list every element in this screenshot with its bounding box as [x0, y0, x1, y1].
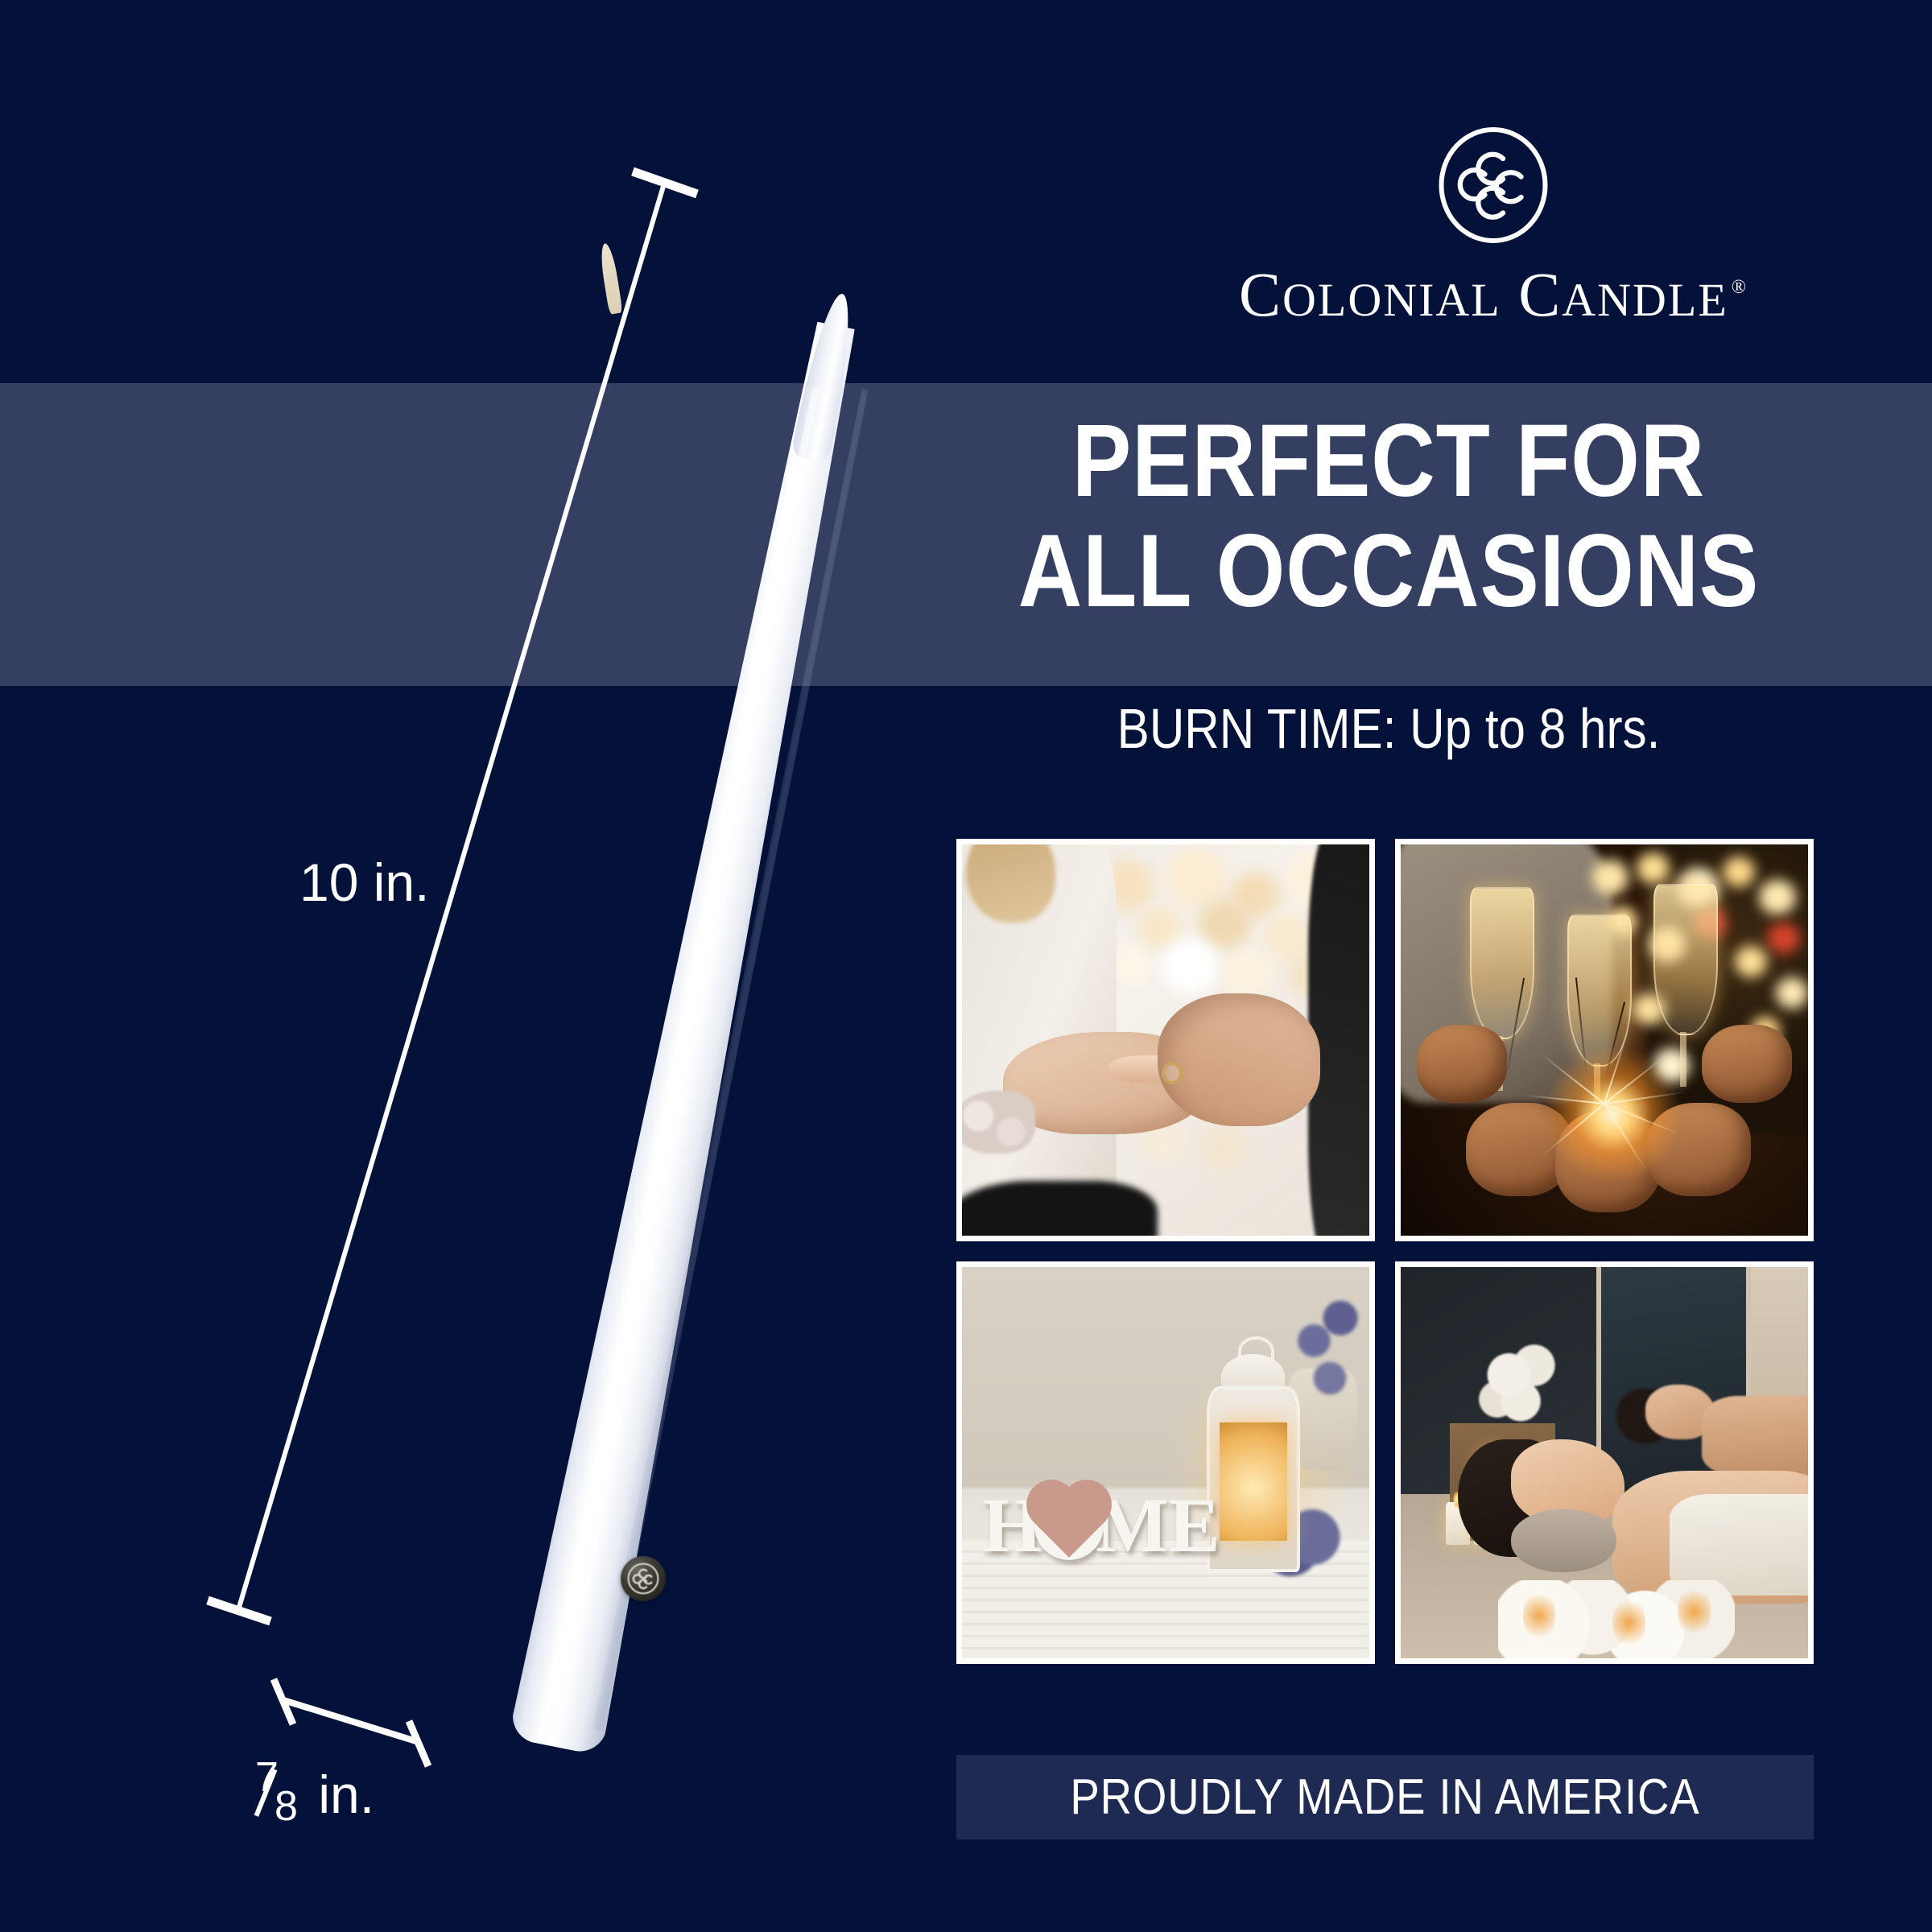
- brand-name: COLONIAL CANDLE®: [1159, 263, 1827, 326]
- burn-time-text: BURN TIME: Up to 8 hrs.: [963, 700, 1814, 757]
- registered-trademark-icon: ®: [1732, 277, 1748, 298]
- taper-candle-illustration: [201, 121, 926, 1795]
- height-dimension-label: 10 in.: [299, 852, 429, 913]
- width-dimension-label: 78 in.: [254, 1763, 374, 1825]
- colonial-candle-clover-cc-monogram-icon: [1433, 125, 1554, 246]
- home-sign: H M E: [982, 1482, 1220, 1568]
- photo-wedding-rings: [956, 839, 1375, 1241]
- home-sign-letter-e: E: [1169, 1491, 1220, 1560]
- brand-name-andle: ANDLE: [1562, 274, 1728, 326]
- headline-line-1: PERFECT FOR: [963, 407, 1814, 517]
- product-infographic: COLONIAL CANDLE® PERFECT FOR ALL OCCASIO…: [0, 0, 1932, 1932]
- brand-name-c1: C: [1239, 259, 1282, 329]
- headline-line-2: ALL OCCASIONS: [963, 517, 1814, 627]
- lantern-icon: [1207, 1345, 1300, 1572]
- brand-block: COLONIAL CANDLE®: [1159, 125, 1827, 326]
- brand-name-olonial: OLONIAL: [1282, 274, 1501, 326]
- made-in-america-banner: PROUDLY MADE IN AMERICA: [956, 1755, 1814, 1839]
- candle-body: [508, 285, 889, 1757]
- candle-wick: [598, 242, 623, 315]
- width-fraction: 78: [254, 1763, 303, 1819]
- photo-spa-relaxation: [1395, 1261, 1814, 1664]
- width-unit-label: in.: [318, 1765, 374, 1824]
- heart-icon: [1034, 1491, 1104, 1560]
- occasion-photo-grid: H M E: [956, 839, 1814, 1672]
- brand-name-c2: C: [1518, 259, 1562, 329]
- page-headline: PERFECT FOR ALL OCCASIONS: [963, 407, 1814, 627]
- photo-home-decor-lantern: H M E: [956, 1261, 1375, 1664]
- cc-monogram-seal-icon: [621, 1556, 666, 1601]
- width-fraction-denominator: 8: [275, 1782, 298, 1831]
- made-in-america-label: PROUDLY MADE IN AMERICA: [1070, 1769, 1699, 1826]
- photo-celebration-sparklers: [1395, 839, 1814, 1241]
